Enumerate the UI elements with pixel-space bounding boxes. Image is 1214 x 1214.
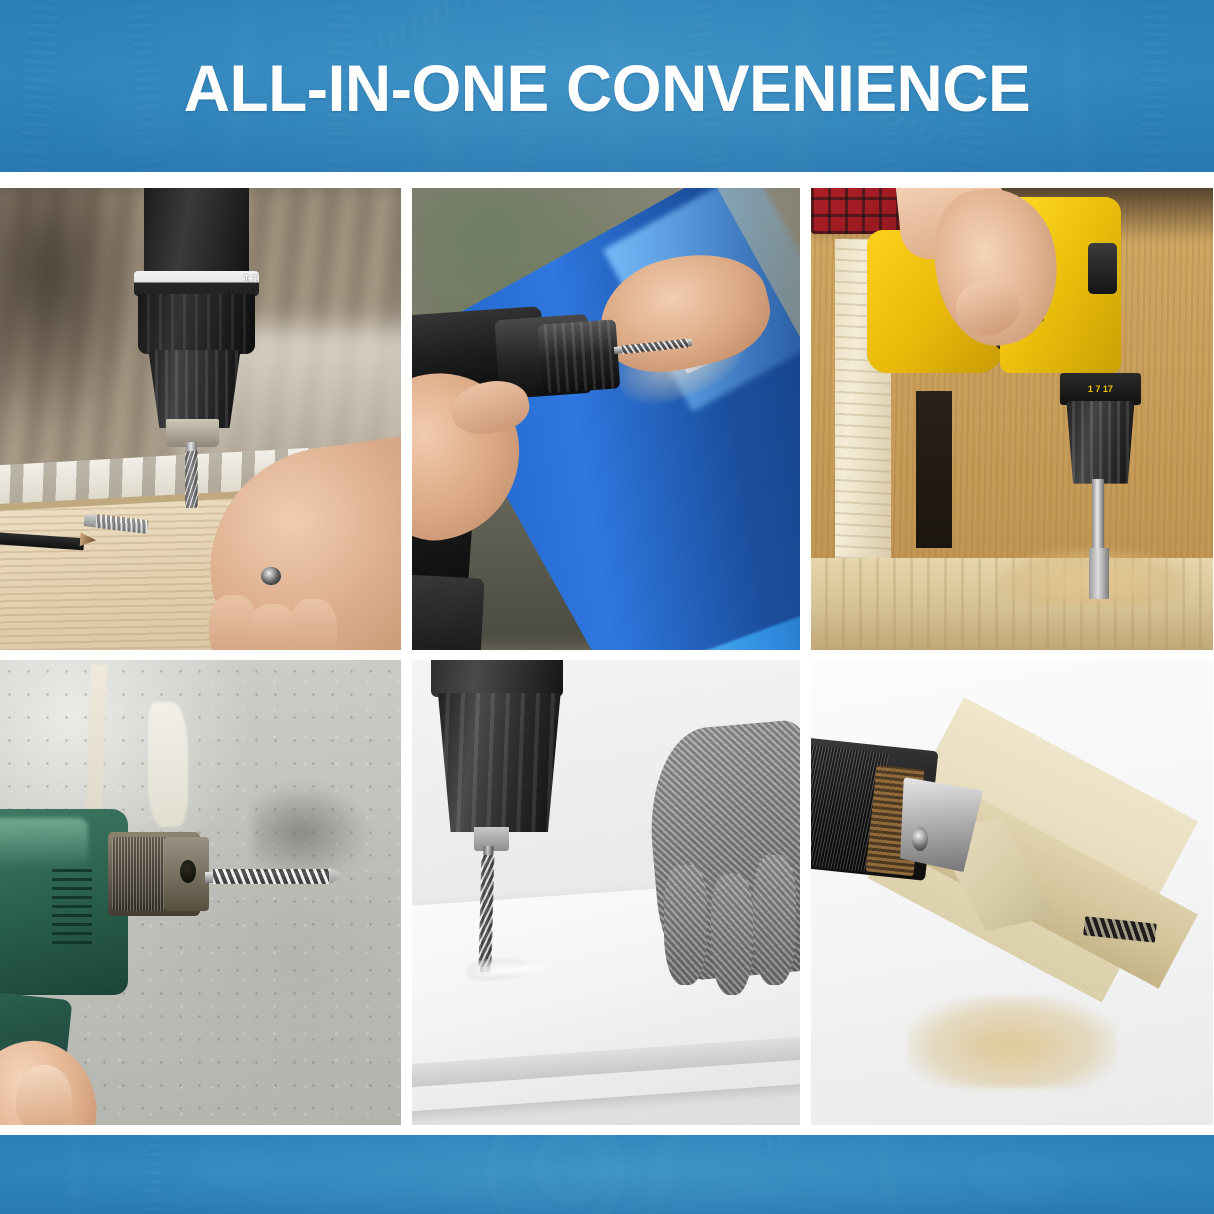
- drill-body-highlight: [0, 818, 88, 869]
- drill-chuck-ribs: [435, 693, 563, 833]
- wall-patch: [148, 702, 188, 828]
- chuck-knurling: [112, 837, 168, 911]
- clutch-collar-shadow: [134, 271, 258, 296]
- spade-bit-shank: [1092, 479, 1104, 553]
- masonry-bit-flutes: [213, 869, 329, 884]
- glove-finger: [753, 855, 796, 985]
- bottom-banner-vignette: [0, 1135, 1214, 1214]
- glove-finger: [711, 874, 754, 995]
- photo-keyed-chuck-wood-dowel: [811, 660, 1213, 1125]
- thumb: [16, 1065, 72, 1125]
- photo-drill-metal-bench: [412, 188, 800, 650]
- finger: [289, 599, 337, 650]
- clutch-marks-label: 1 7 17: [1060, 373, 1140, 405]
- photo-grid: 21 19 17 15 13 11: [0, 188, 1214, 1125]
- page-title: ALL-IN-ONE CONVENIENCE: [18, 0, 1196, 172]
- sawdust: [907, 995, 1116, 1088]
- screw-thread: [185, 451, 198, 507]
- glove-finger: [664, 865, 707, 986]
- drill-clutch-ribs: [138, 294, 254, 354]
- drill-direction-switch: [1088, 243, 1116, 294]
- drill-battery: [412, 574, 484, 650]
- drill-chuck-ribs: [148, 350, 240, 429]
- drill-vents: [52, 869, 92, 943]
- photo-drill-screw-pine: 21 19 17 15 13 11: [0, 188, 401, 650]
- drill-chuck-ribs: [538, 319, 620, 394]
- concrete-dust: [253, 781, 373, 883]
- photo-yellow-drill-spade-bit: 1 7 17: [811, 188, 1213, 650]
- spade-bit-blade: [1089, 548, 1109, 599]
- ring: [261, 567, 281, 585]
- drill-chuck-ribs: [1066, 401, 1134, 484]
- photo-drill-ceramic-tile: [412, 660, 800, 1125]
- chuck-key-hole: [912, 827, 928, 850]
- photo-drill-concrete-wall: [0, 660, 401, 1125]
- background-shadow: [0, 188, 148, 433]
- dark-shadow-strip: [916, 391, 952, 548]
- bottom-banner: [0, 1135, 1214, 1214]
- drill-body: [431, 660, 563, 697]
